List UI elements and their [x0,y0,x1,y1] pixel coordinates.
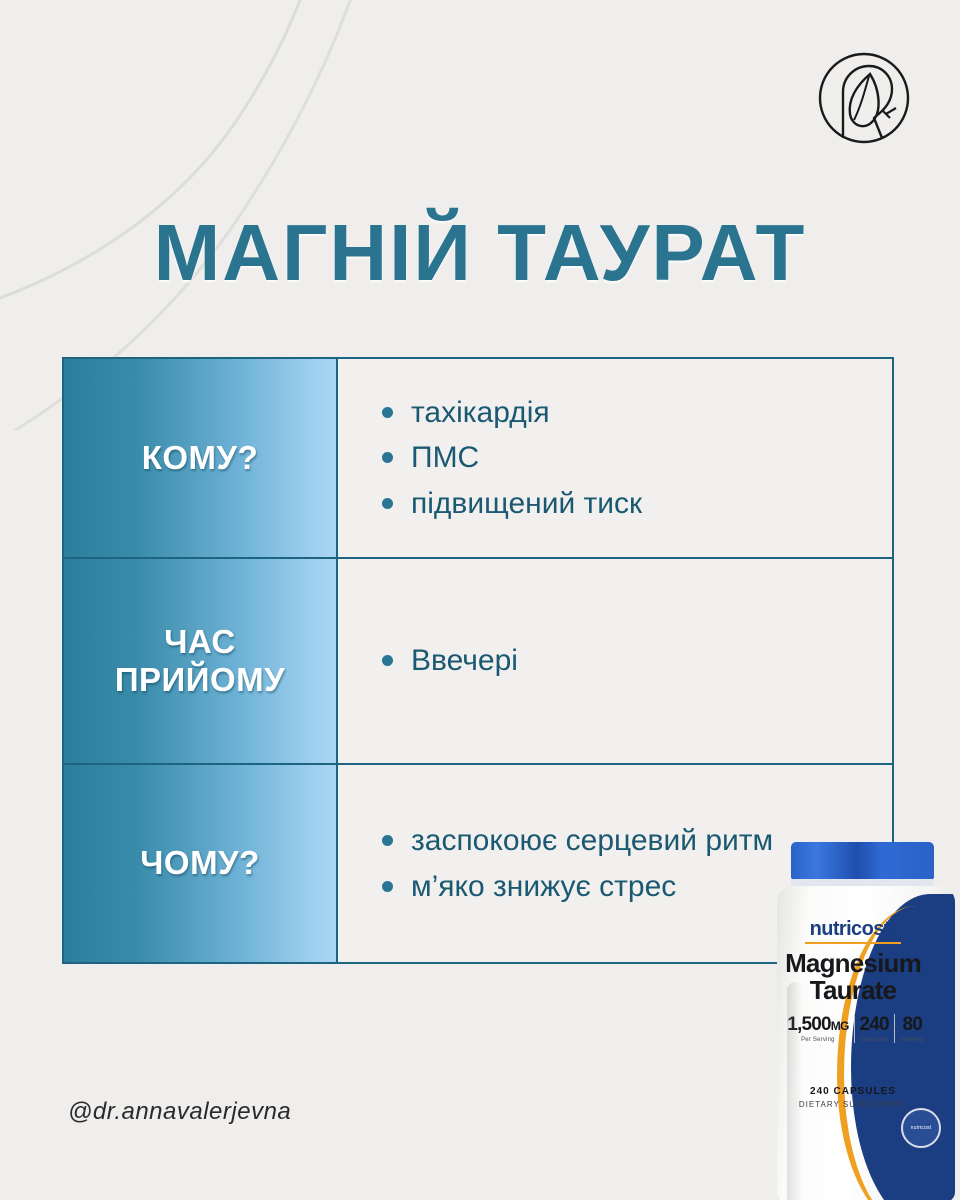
product-fact-sub: Per Serving [787,1037,848,1043]
fact-unit: MG [831,1019,849,1033]
product-name: Magnesium Taurate [777,950,929,1004]
bullet-dot-icon [382,655,393,666]
row-label-line-1: ЧАС [164,623,236,660]
product-fact-value: 1,500MG [787,1014,848,1036]
bullet-dot-icon [382,452,393,463]
table-row: КОМУ? тахікардія ПМС підвищений тиск [64,359,892,559]
product-fact-sub: Capsules [860,1037,889,1043]
list-item-text: тахікардія [411,390,550,436]
product-seal-text: nutricost [911,1125,932,1131]
row-label-text: ЧАС ПРИЙОМУ [115,623,285,700]
row-label-text: КОМУ? [142,439,259,477]
bullet-dot-icon [382,498,393,509]
list-item: Ввечері [382,638,874,684]
fact-number: 80 [903,1014,923,1035]
row-content-chas-pryyomu: Ввечері [338,559,892,763]
product-supplement-label: DIETARY SUPPLEMENT [777,1100,929,1109]
list-item-text: ПМС [411,435,479,481]
page-title: МАГНІЙ ТАУРАТ [0,207,960,299]
list-item: тахікардія [382,390,874,436]
product-fact-sub: Servings [900,1037,925,1043]
woman-profile-leaf-logo [812,46,916,150]
row-content-komu: тахікардія ПМС підвищений тиск [338,359,892,557]
row-label-line-2: ПРИЙОМУ [115,661,285,698]
row-label-text: ЧОМУ? [140,844,260,882]
product-fact: 1,500MG Per Serving [782,1014,853,1043]
product-fact-value: 240 [860,1014,889,1036]
list-item-text: Ввечері [411,638,518,684]
list-item: підвищений тиск [382,481,874,527]
product-fact: 80 Servings [894,1014,930,1043]
product-brand-text: nutricost [810,918,890,940]
bullet-dot-icon [382,835,393,846]
fact-number: 1,500 [787,1014,831,1035]
product-bottle-image: nutricost® Magnesium Taurate 1,500MG Per… [755,842,960,1200]
product-seal-badge: nutricost [901,1108,941,1148]
product-fact: 240 Capsules [854,1014,894,1043]
product-capsule-count: 240 CAPSULES [777,1086,929,1097]
brand-underline [805,942,901,944]
bullet-dot-icon [382,407,393,418]
bottle-cap [791,842,934,880]
product-fact-value: 80 [900,1014,925,1036]
row-label-komu: КОМУ? [64,359,338,557]
product-brand: nutricost® [777,918,927,941]
row-label-chas-pryyomu: ЧАС ПРИЙОМУ [64,559,338,763]
row-label-chomu: ЧОМУ? [64,765,338,962]
table-row: ЧАС ПРИЙОМУ Ввечері [64,559,892,765]
list-item: ПМС [382,435,874,481]
product-name-line-1: Magnesium [785,948,921,978]
poster-canvas: МАГНІЙ ТАУРАТ КОМУ? тахікардія ПМС підви… [0,0,960,1200]
product-facts: 1,500MG Per Serving 240 Capsules 80 Serv… [783,1014,929,1043]
bottle-body: nutricost® Magnesium Taurate 1,500MG Per… [777,886,955,1200]
list-item-text: підвищений тиск [411,481,642,527]
list-item-text: м’яко знижує стрес [411,864,676,910]
fact-number: 240 [860,1014,889,1035]
list-item-text: заспокоює серцевий ритм [411,818,773,864]
product-name-line-2: Taurate [810,975,896,1005]
bullet-dot-icon [382,881,393,892]
instagram-handle: @dr.annavalerjevna [68,1098,291,1126]
trademark-icon: ® [890,922,895,929]
